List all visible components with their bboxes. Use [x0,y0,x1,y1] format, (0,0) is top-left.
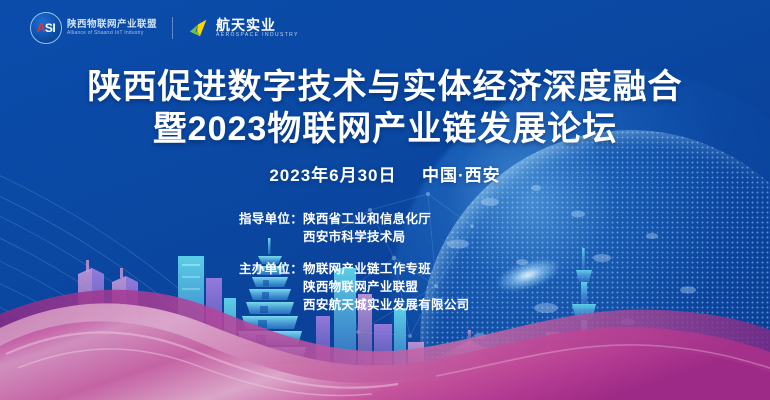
organizer-group-host: 主办单位： 物联网产业链工作专班 陕西物联网产业联盟 西安航天城实业发展有限公司 [239,260,531,314]
organizer-list: 指导单位： 陕西省工业和信息化厅 西安市科学技术局 主办单位： 物联网产业链工作… [0,210,770,314]
event-title: 陕西促进数字技术与实体经济深度融合 暨2023物联网产业链发展论坛 [0,66,770,150]
organizer-label: 指导单位： [239,210,303,228]
event-date: 2023年6月30日 [269,166,396,185]
event-date-location: 2023年6月30日 中国·西安 [0,161,770,186]
asi-monogram-si: SI [45,22,55,34]
organizer-unit: 物联网产业链工作专班 [303,260,469,278]
aerospace-name-cn: 航天实业 [216,18,299,32]
logo-bar: ASI 陕西物联网产业联盟 Alliance of Shaanxi IoT In… [30,12,299,44]
organizer-units: 陕西省工业和信息化厅 西安市科学技术局 [303,210,431,246]
conference-banner: ASI 陕西物联网产业联盟 Alliance of Shaanxi IoT In… [0,0,770,400]
aerospace-logo: 航天实业 AEROSPACE INDUSTRY [188,17,299,39]
organizer-label: 主办单位： [239,260,303,278]
aerospace-name-en: AEROSPACE INDUSTRY [216,33,299,38]
organizer-unit: 陕西省工业和信息化厅 [303,210,431,228]
organizer-units: 物联网产业链工作专班 陕西物联网产业联盟 西安航天城实业发展有限公司 [303,260,469,314]
asi-circle-emblem: ASI [30,12,62,44]
organizer-group-guidance: 指导单位： 陕西省工业和信息化厅 西安市科学技术局 [239,210,531,246]
organizer-unit: 西安航天城实业发展有限公司 [303,296,469,314]
logo-divider [172,17,173,39]
asi-monogram-a: A [37,22,45,34]
organizer-unit: 陕西物联网产业联盟 [303,278,469,296]
title-line-2: 暨2023物联网产业链发展论坛 [0,108,770,150]
title-line-1: 陕西促进数字技术与实体经济深度融合 [0,66,770,108]
event-location: 中国·西安 [422,166,501,185]
alliance-name-cn: 陕西物联网产业联盟 [67,20,157,30]
alliance-logo: ASI 陕西物联网产业联盟 Alliance of Shaanxi IoT In… [30,12,157,44]
organizer-unit: 西安市科学技术局 [303,228,431,246]
alliance-name-en: Alliance of Shaanxi IoT Industry [67,31,157,36]
background-decoration-layer [0,0,770,400]
aerospace-swoosh-mark [188,17,210,39]
